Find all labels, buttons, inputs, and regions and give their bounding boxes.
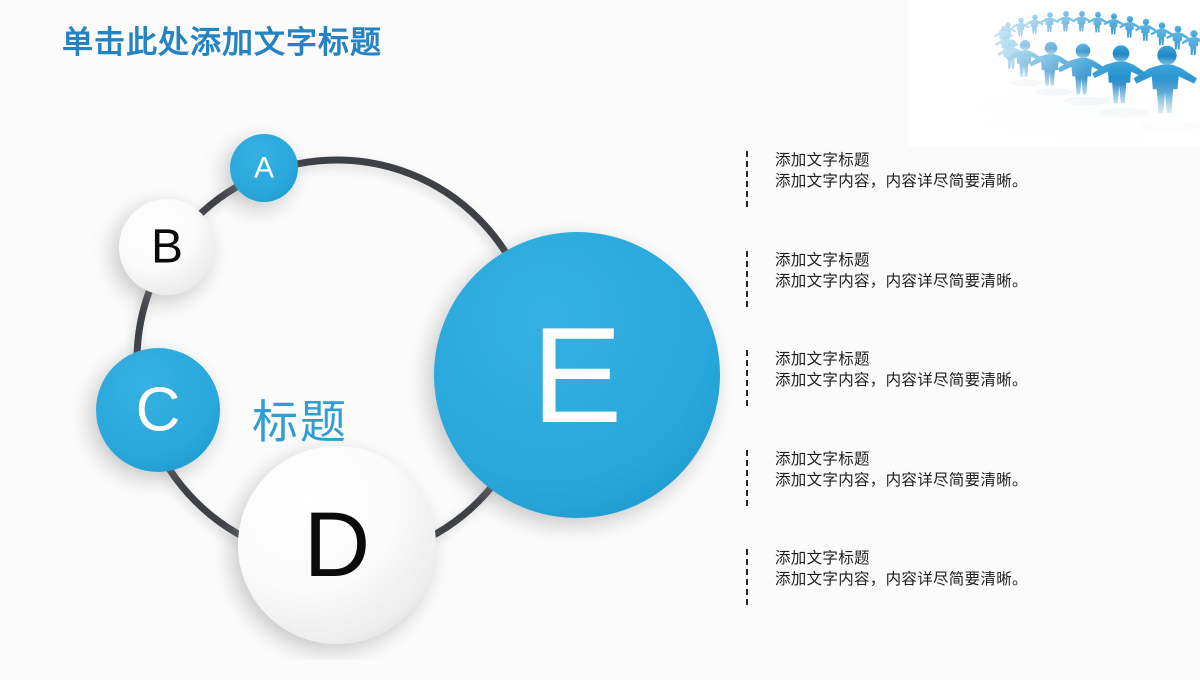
list-item[interactable]: 添加文字标题 添加文字内容，内容详尽简要清晰。	[746, 347, 1166, 447]
list-item-text: 添加文字标题 添加文字内容，内容详尽简要清晰。	[775, 548, 1155, 590]
node-d[interactable]: D	[238, 446, 436, 644]
node-c[interactable]: C	[96, 348, 220, 472]
node-e[interactable]: E	[434, 232, 720, 518]
list-item-body: 添加文字内容，内容详尽简要清晰。	[775, 470, 1155, 491]
node-e-letter: E	[532, 299, 623, 451]
node-c-letter: C	[136, 376, 181, 445]
list-item[interactable]: 添加文字标题 添加文字内容，内容详尽简要清晰。	[746, 447, 1166, 547]
presentation-slide: 单击此处添加文字标题	[0, 0, 1200, 680]
node-b-letter: B	[151, 221, 183, 274]
dashed-divider-icon	[746, 151, 748, 207]
list-item[interactable]: 添加文字标题 添加文字内容，内容详尽简要清晰。	[746, 546, 1166, 646]
list-item[interactable]: 添加文字标题 添加文字内容，内容详尽简要清晰。	[746, 248, 1166, 348]
list-item-heading: 添加文字标题	[775, 250, 1155, 271]
diagram-center-label[interactable]: 标题	[252, 399, 348, 445]
list-item-body: 添加文字内容，内容详尽简要清晰。	[775, 370, 1155, 391]
node-a[interactable]: A	[230, 134, 298, 202]
bullet-list: 添加文字标题 添加文字内容，内容详尽简要清晰。 添加文字标题 添加文字内容，内容…	[746, 148, 1166, 646]
list-item-text: 添加文字标题 添加文字内容，内容详尽简要清晰。	[775, 150, 1155, 192]
list-item-body: 添加文字内容，内容详尽简要清晰。	[775, 271, 1155, 292]
dashed-divider-icon	[746, 350, 748, 406]
list-item-text: 添加文字标题 添加文字内容，内容详尽简要清晰。	[775, 349, 1155, 391]
node-b[interactable]: B	[119, 199, 215, 295]
dashed-divider-icon	[746, 251, 748, 307]
circle-node-diagram: E D C B A 标题	[0, 90, 760, 660]
list-item-heading: 添加文字标题	[775, 349, 1155, 370]
list-item-heading: 添加文字标题	[775, 150, 1155, 171]
list-item-heading: 添加文字标题	[775, 548, 1155, 569]
list-item-heading: 添加文字标题	[775, 449, 1155, 470]
list-item-body: 添加文字内容，内容详尽简要清晰。	[775, 569, 1155, 590]
dashed-divider-icon	[746, 549, 748, 605]
page-title[interactable]: 单击此处添加文字标题	[62, 24, 382, 61]
list-item[interactable]: 添加文字标题 添加文字内容，内容详尽简要清晰。	[746, 148, 1166, 248]
node-a-letter: A	[254, 152, 274, 185]
list-item-text: 添加文字标题 添加文字内容，内容详尽简要清晰。	[775, 250, 1155, 292]
people-holding-hands-circle-photo	[908, 0, 1200, 146]
dashed-divider-icon	[746, 450, 748, 506]
node-d-letter: D	[304, 494, 370, 596]
list-item-text: 添加文字标题 添加文字内容，内容详尽简要清晰。	[775, 449, 1155, 491]
list-item-body: 添加文字内容，内容详尽简要清晰。	[775, 171, 1155, 192]
